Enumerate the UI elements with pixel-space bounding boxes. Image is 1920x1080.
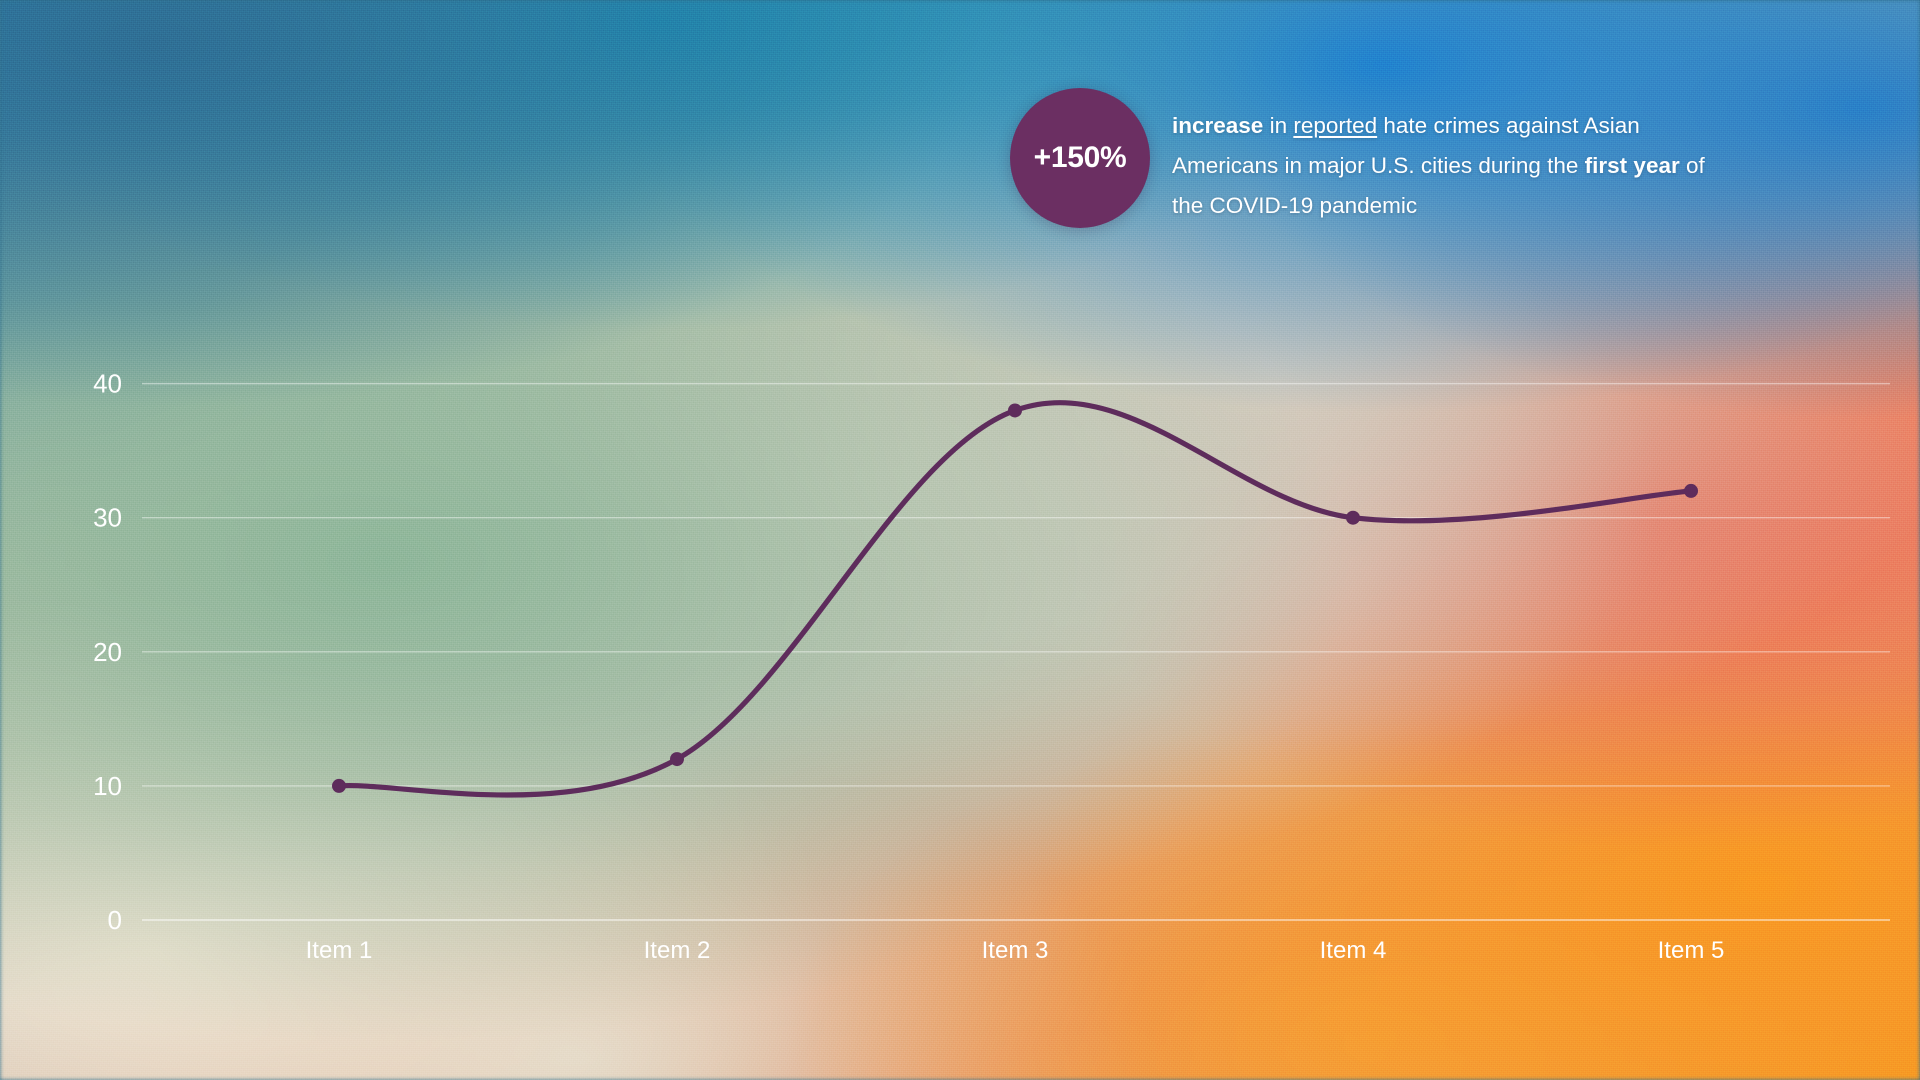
caption-segment-0: increase [1172,113,1263,138]
y-tick-label-0: 0 [108,905,122,935]
data-point-4 [1346,511,1360,525]
x-tick-label-1: Item 1 [306,937,373,964]
caption-segment-2: reported [1293,113,1377,138]
data-point-3 [1008,403,1022,417]
x-tick-label-3: Item 3 [982,937,1049,964]
data-point-5 [1684,484,1698,498]
stat-badge: +150% [1010,88,1150,228]
stat-badge-value: +150% [1034,141,1127,175]
y-tick-label-10: 10 [93,771,122,801]
series-line-path [339,403,1691,795]
y-tick-label-20: 20 [93,637,122,667]
series-data-points [332,403,1698,792]
infographic-canvas: 010203040 Item 1Item 2Item 3Item 4Item 5… [0,0,1920,1080]
data-point-1 [332,779,346,793]
annotation-caption: increase in reported hate crimes against… [1172,88,1724,226]
gridlines [142,384,1890,920]
y-tick-label-30: 30 [93,503,122,533]
caption-segment-4: first year [1585,153,1680,178]
data-point-2 [670,752,684,766]
x-axis-tick-labels: Item 1Item 2Item 3Item 4Item 5 [306,937,1725,964]
x-tick-label-5: Item 5 [1658,937,1725,964]
x-tick-label-4: Item 4 [1320,937,1387,964]
annotation-block: +150% increase in reported hate crimes a… [1010,88,1724,228]
y-tick-label-40: 40 [93,369,122,399]
y-axis-tick-labels: 010203040 [93,369,122,935]
caption-segment-1: in [1263,113,1293,138]
x-tick-label-2: Item 2 [644,937,711,964]
